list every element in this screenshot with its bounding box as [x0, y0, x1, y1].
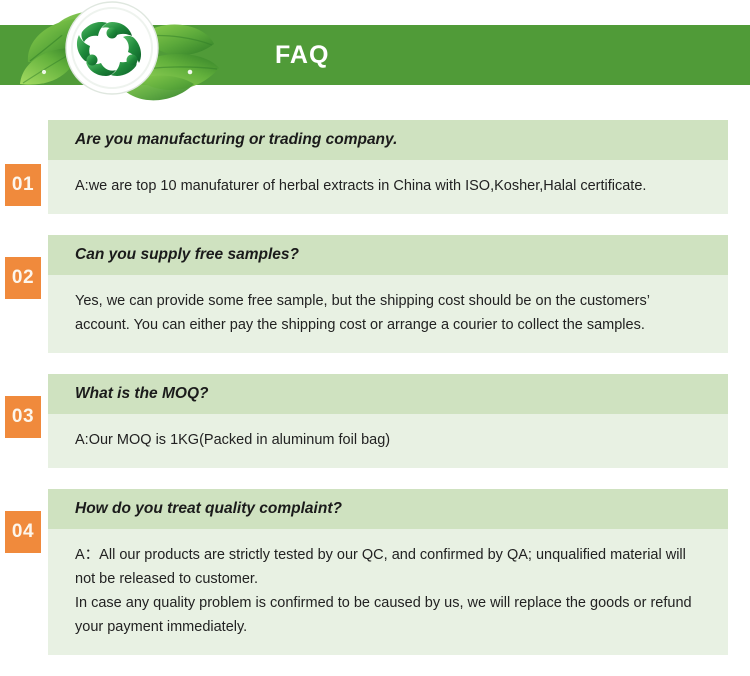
page-header: FAQ [0, 0, 750, 120]
faq-answer: A:Our MOQ is 1KG(Packed in aluminum foil… [48, 414, 728, 468]
faq-number-badge: 02 [5, 257, 41, 299]
faq-item: 04 How do you treat quality complaint? A… [0, 489, 750, 655]
faq-list: 01 Are you manufacturing or trading comp… [0, 120, 750, 676]
page-title: FAQ [275, 25, 329, 85]
faq-number-badge: 01 [5, 164, 41, 206]
faq-answer: A：All our products are strictly tested b… [48, 529, 728, 655]
faq-item: 01 Are you manufacturing or trading comp… [0, 120, 750, 214]
faq-answer: A:we are top 10 manufaturer of herbal ex… [48, 160, 728, 214]
faq-question[interactable]: What is the MOQ? [48, 374, 728, 414]
faq-question[interactable]: Can you supply free samples? [48, 235, 728, 275]
faq-question[interactable]: Are you manufacturing or trading company… [48, 120, 728, 160]
faq-item: 02 Can you supply free samples? Yes, we … [0, 235, 750, 353]
faq-number-badge: 03 [5, 396, 41, 438]
faq-number-badge: 04 [5, 511, 41, 553]
faq-answer: Yes, we can provide some free sample, bu… [48, 275, 728, 353]
company-leaf-recycle-logo [10, 0, 230, 110]
faq-question[interactable]: How do you treat quality complaint? [48, 489, 728, 529]
faq-item: 03 What is the MOQ? A:Our MOQ is 1KG(Pac… [0, 374, 750, 468]
